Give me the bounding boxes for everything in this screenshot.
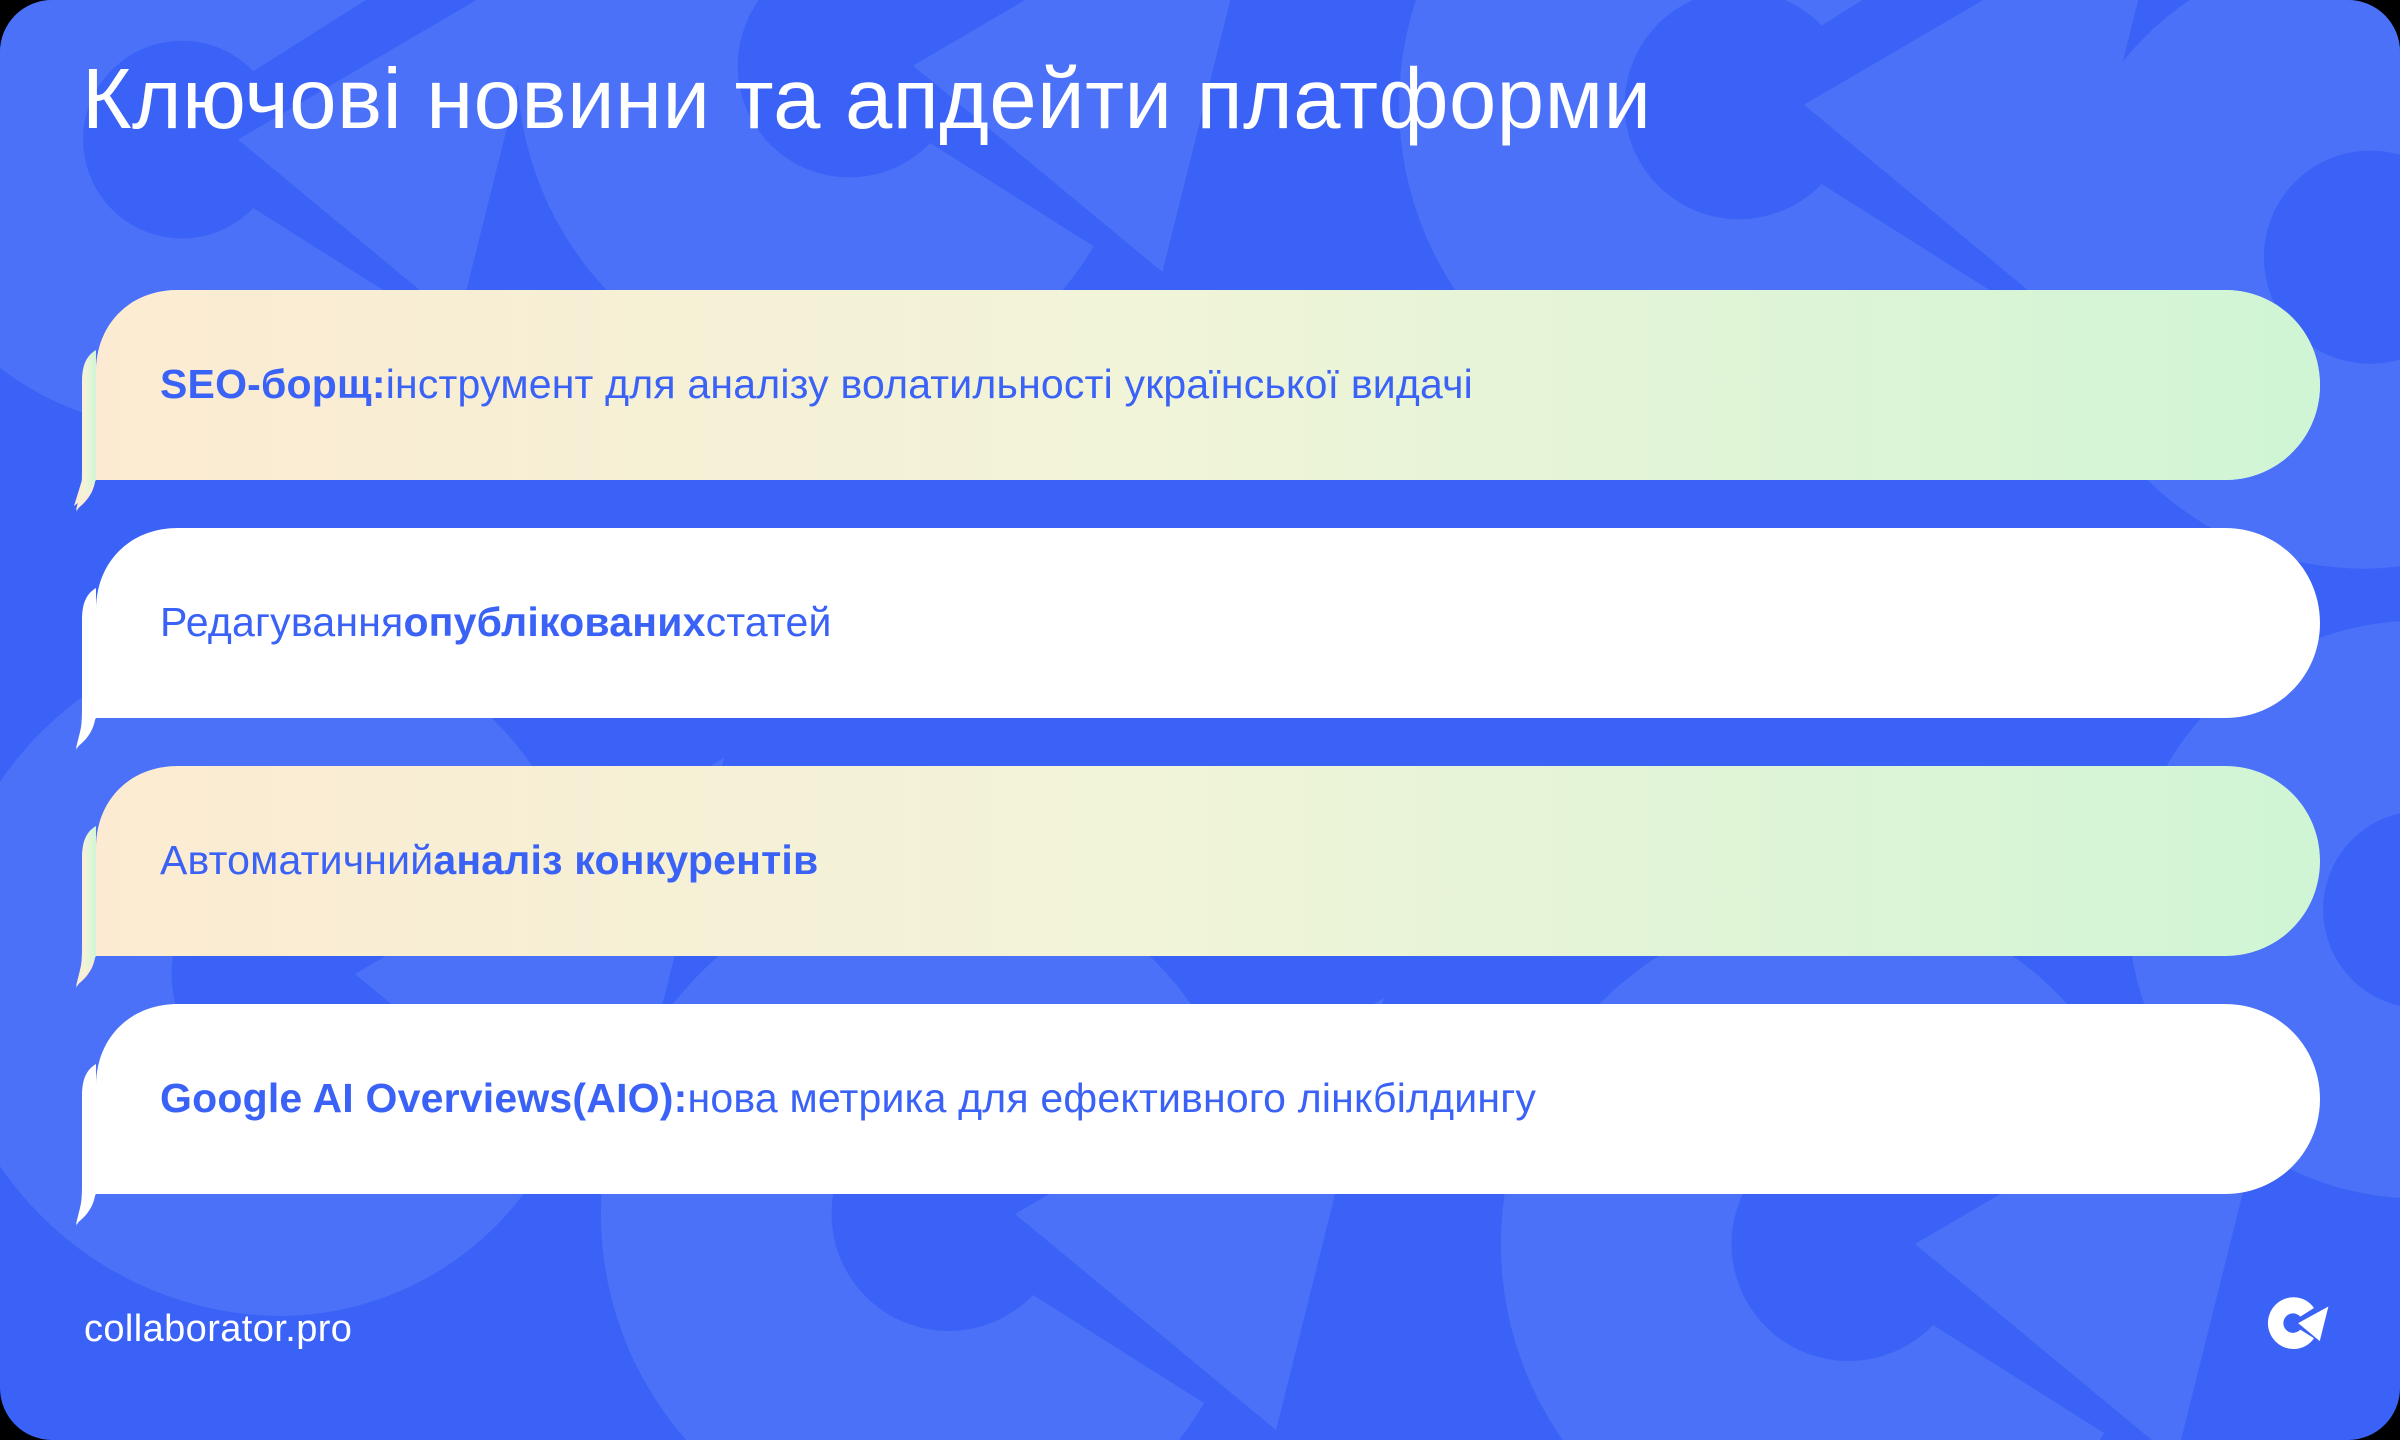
page-title: Ключові новини та апдейти платформи <box>82 52 2282 147</box>
card-text-bold: аналіз конкурентів <box>433 834 818 887</box>
collaborator-logo-icon <box>2260 1290 2332 1362</box>
list-item[interactable]: Автоматичний аналіз конкурентів <box>0 766 2400 956</box>
card-text-bold: Google AI Overviews(AIO): <box>160 1072 687 1125</box>
card-text-prefix: Автоматичний <box>160 834 433 887</box>
list-item[interactable]: Google AI Overviews(AIO): нова метрика д… <box>0 1004 2400 1194</box>
card-text: SEO-борщ: інструмент для аналізу волатил… <box>160 290 2340 480</box>
footer-domain-label: collaborator.pro <box>84 1308 352 1351</box>
card-text-rest: статей <box>706 596 832 649</box>
card-text-prefix: Редагування <box>160 596 403 649</box>
card-text: Автоматичний аналіз конкурентів <box>160 766 2340 956</box>
list-item[interactable]: SEO-борщ: інструмент для аналізу волатил… <box>0 290 2400 480</box>
card-text-rest: нова метрика для ефективного лінкбілдинг… <box>687 1072 1536 1125</box>
card-text-bold: опублікованих <box>403 596 705 649</box>
card-text-rest: інструмент для аналізу волатильності укр… <box>386 358 1473 411</box>
card-text: Редагування опублікованих статей <box>160 528 2340 718</box>
slide-canvas: Ключові новини та апдейти платформи <box>0 0 2400 1440</box>
card-text: Google AI Overviews(AIO): нова метрика д… <box>160 1004 2340 1194</box>
card-text-bold: SEO-борщ: <box>160 358 386 411</box>
news-card-list: SEO-борщ: інструмент для аналізу волатил… <box>0 290 2400 1194</box>
header: Ключові новини та апдейти платформи <box>82 52 2282 147</box>
list-item[interactable]: Редагування опублікованих статей <box>0 528 2400 718</box>
footer: collaborator.pro <box>0 1240 2400 1440</box>
